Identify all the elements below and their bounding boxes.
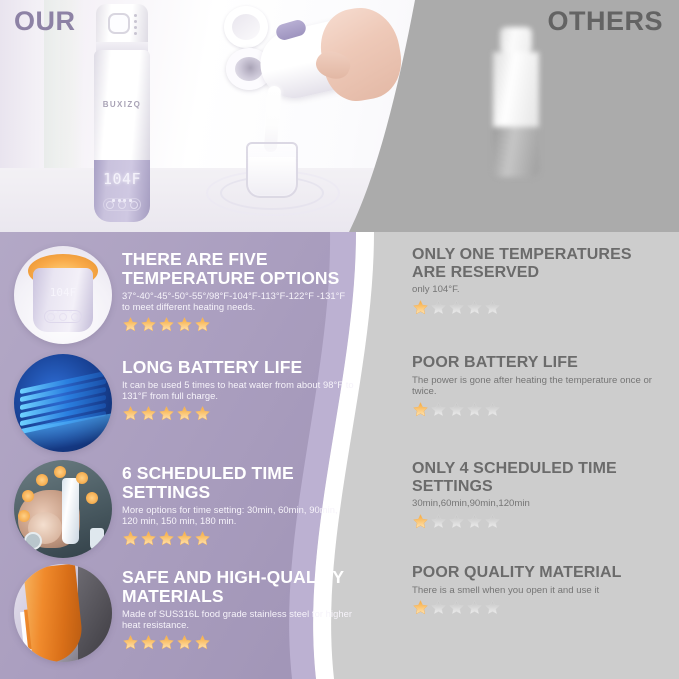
star-filled-icon (158, 316, 175, 333)
star-filled-icon (176, 634, 193, 651)
star-filled-icon (194, 405, 211, 422)
pouring-scene-image (218, 0, 378, 232)
star-empty-icon (430, 513, 447, 530)
bottle-control-buttons (103, 198, 141, 211)
star-empty-icon (448, 513, 465, 530)
our-feature-body-1: 37°-40°-45°-50°-55°/98°F-104°F-113°F-122… (122, 290, 354, 313)
bottle-lid-button (108, 13, 130, 34)
other-feature-heading-3: ONLY 4 SCHEDULED TIME SETTINGS (412, 460, 668, 495)
star-filled-icon (140, 530, 157, 547)
our-feature-body-2: It can be used 5 times to heat water fro… (122, 379, 354, 402)
battery-cells-icon (14, 354, 112, 452)
star-empty-icon (448, 299, 465, 316)
star-filled-icon (176, 316, 193, 333)
our-rating-2 (122, 405, 354, 422)
competitor-bottle-body (493, 52, 539, 130)
star-filled-icon (158, 405, 175, 422)
star-filled-icon (194, 634, 211, 651)
other-feature-body-2: The power is gone after heating the temp… (412, 375, 668, 398)
star-empty-icon (430, 599, 447, 616)
night-feeding-icon (14, 460, 112, 558)
star-filled-icon (412, 401, 429, 418)
our-rating-3 (122, 530, 354, 547)
bottle-warmer-icon: 104F (14, 246, 112, 344)
other-feature-body-4: There is a smell when you open it and us… (412, 585, 668, 597)
star-filled-icon (176, 530, 193, 547)
star-filled-icon (122, 530, 139, 547)
our-feature-text-3: 6 SCHEDULED TIME SETTINGS More options f… (122, 464, 354, 547)
our-feature-heading-3: 6 SCHEDULED TIME SETTINGS (122, 464, 354, 502)
other-feature-row-2: POOR BATTERY LIFE The power is gone afte… (412, 354, 668, 418)
star-empty-icon (430, 401, 447, 418)
other-rating-2 (412, 401, 668, 418)
glass-jar (246, 142, 298, 198)
star-filled-icon (140, 634, 157, 651)
others-title: OTHERS (547, 6, 663, 37)
star-filled-icon (158, 530, 175, 547)
star-filled-icon (122, 405, 139, 422)
star-filled-icon (122, 634, 139, 651)
star-filled-icon (140, 405, 157, 422)
milk-in-jar (249, 157, 295, 195)
stainless-steel-icon (14, 564, 112, 662)
our-title: OUR (14, 6, 76, 37)
product-bottle-image: BUXIZQ 104F (88, 4, 156, 222)
star-empty-icon (484, 513, 501, 530)
thumb-temp-reading: 104F (33, 286, 93, 299)
our-feature-body-4: Made of SUS316L food grade stainless ste… (122, 608, 354, 631)
competitor-bottle-image (487, 27, 545, 195)
star-empty-icon (448, 599, 465, 616)
star-empty-icon (484, 401, 501, 418)
other-feature-heading-2: POOR BATTERY LIFE (412, 354, 668, 372)
star-empty-icon (484, 599, 501, 616)
our-feature-body-3: More options for time setting: 30min, 60… (122, 504, 354, 527)
competitor-bottle-base (493, 127, 539, 177)
star-filled-icon (140, 316, 157, 333)
other-rating-4 (412, 599, 668, 616)
bottle-vent-dots-icon (134, 14, 137, 33)
star-empty-icon (484, 299, 501, 316)
comparison-body: 104F THERE ARE FIVE TEMPERATURE OPTIONS … (0, 232, 679, 679)
flip-lid (224, 6, 268, 48)
other-feature-body-3: 30min,60min,90min,120min (412, 498, 668, 510)
other-feature-row-4: POOR QUALITY MATERIAL There is a smell w… (412, 564, 668, 616)
our-feature-heading-4: SAFE AND HIGH-QUALITY MATERIALS (122, 568, 354, 606)
star-filled-icon (158, 634, 175, 651)
bottle-temperature-display: 104F (94, 170, 150, 188)
our-feature-heading-1: THERE ARE FIVE TEMPERATURE OPTIONS (122, 250, 354, 288)
our-rating-1 (122, 316, 354, 333)
other-feature-heading-1: ONLY ONE TEMPERATURES ARE RESERVED (412, 246, 668, 281)
star-filled-icon (412, 513, 429, 530)
star-empty-icon (466, 299, 483, 316)
star-filled-icon (412, 299, 429, 316)
other-rating-3 (412, 513, 668, 530)
our-feature-text-2: LONG BATTERY LIFE It can be used 5 times… (122, 358, 354, 422)
other-feature-row-3: ONLY 4 SCHEDULED TIME SETTINGS 30min,60m… (412, 460, 668, 530)
other-rating-1 (412, 299, 668, 316)
brand-logo: BUXIZQ (88, 100, 156, 109)
bottle-body (94, 50, 150, 168)
star-filled-icon (194, 316, 211, 333)
competitor-bottle-cap (500, 27, 532, 53)
star-filled-icon (412, 599, 429, 616)
other-feature-body-1: only 104°F. (412, 284, 668, 296)
our-feature-text-1: THERE ARE FIVE TEMPERATURE OPTIONS 37°-4… (122, 250, 354, 333)
comparison-infographic: BUXIZQ 104F (0, 0, 679, 679)
star-filled-icon (122, 316, 139, 333)
star-empty-icon (466, 599, 483, 616)
star-filled-icon (176, 405, 193, 422)
star-empty-icon (466, 401, 483, 418)
star-empty-icon (448, 401, 465, 418)
hero-banner: BUXIZQ 104F (0, 0, 679, 232)
star-filled-icon (194, 530, 211, 547)
our-feature-text-4: SAFE AND HIGH-QUALITY MATERIALS Made of … (122, 568, 354, 651)
other-feature-row-1: ONLY ONE TEMPERATURES ARE RESERVED only … (412, 246, 668, 316)
star-empty-icon (430, 299, 447, 316)
our-rating-4 (122, 634, 354, 651)
other-feature-heading-4: POOR QUALITY MATERIAL (412, 564, 668, 582)
our-feature-heading-2: LONG BATTERY LIFE (122, 358, 354, 377)
bottle-base: 104F (94, 160, 150, 222)
star-empty-icon (466, 513, 483, 530)
